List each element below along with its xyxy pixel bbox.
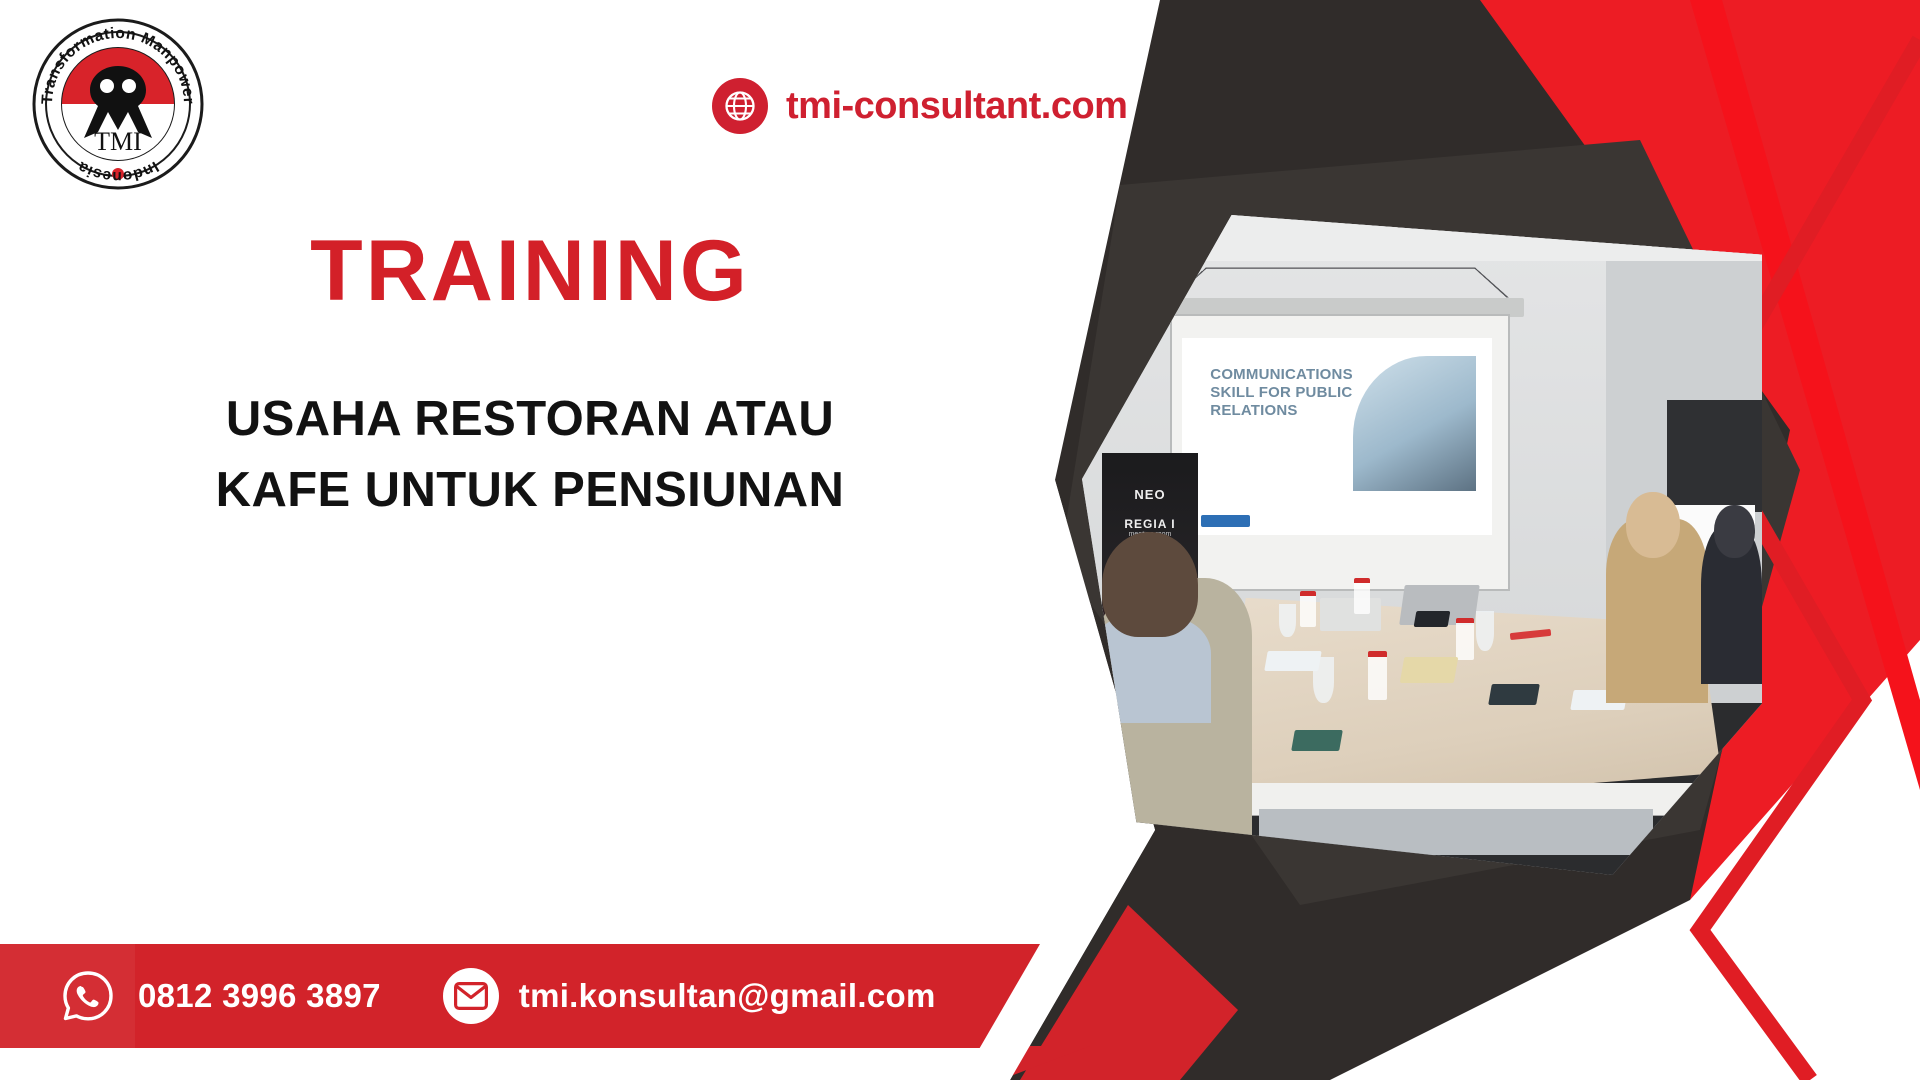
- drinking-glass: [1279, 604, 1295, 637]
- contact-bar: 0812 3996 3897 tmi.konsultan@gmail.com: [0, 944, 1040, 1048]
- whatsapp-icon: [58, 966, 118, 1026]
- slide-title-line-3: RELATIONS: [1210, 402, 1353, 420]
- slide-title-line-1: COMMUNICATIONS: [1210, 366, 1353, 384]
- page-subtitle: USAHA RESTORAN ATAU KAFE UNTUK PENSIUNAN: [0, 384, 1060, 526]
- globe-icon: [712, 78, 768, 134]
- water-bottle: [1300, 591, 1316, 627]
- company-logo: TMI Transformation Manpower Indonesia: [28, 14, 208, 194]
- projection-screen: COMMUNICATIONS SKILL FOR PUBLIC RELATION…: [1170, 314, 1510, 591]
- smartphone: [1291, 730, 1342, 751]
- slide-title-line-2: SKILL FOR PUBLIC: [1210, 384, 1353, 402]
- phone-number-text: 0812 3996 3897: [138, 977, 381, 1015]
- tmi-logo-icon: TMI Transformation Manpower Indonesia: [28, 14, 208, 194]
- notepad: [1399, 657, 1458, 683]
- subtitle-line-1: USAHA RESTORAN ATAU: [0, 384, 1060, 455]
- email-address-text: tmi.konsultan@gmail.com: [519, 977, 936, 1015]
- participant-right-head: [1626, 492, 1680, 558]
- logo-initials: TMI: [94, 127, 142, 156]
- smartphone: [1414, 611, 1451, 627]
- participant-left-head: [1102, 532, 1197, 638]
- headline-block: TRAINING USAHA RESTORAN ATAU KAFE UNTUK …: [0, 228, 1060, 526]
- water-bottle: [1368, 651, 1387, 701]
- banner-brand: NEO: [1102, 487, 1197, 502]
- meeting-room-scene: COMMUNICATIONS SKILL FOR PUBLIC RELATION…: [1082, 215, 1762, 875]
- poster-canvas: TMI Transformation Manpower Indonesia tm…: [0, 0, 1920, 1080]
- smartphone: [1488, 684, 1539, 705]
- participant-far-right-head: [1714, 505, 1755, 558]
- page-title: TRAINING: [0, 228, 1060, 316]
- projector: [1320, 598, 1381, 631]
- window-blind: [1667, 400, 1762, 512]
- envelope-icon: [443, 968, 499, 1024]
- whatsapp-contact[interactable]: 0812 3996 3897: [58, 966, 381, 1026]
- slide-handshake-image: [1353, 356, 1476, 491]
- slide-footer-logo: [1201, 515, 1250, 527]
- email-contact[interactable]: tmi.konsultan@gmail.com: [443, 968, 936, 1024]
- presentation-slide: COMMUNICATIONS SKILL FOR PUBLIC RELATION…: [1182, 338, 1491, 535]
- subtitle-line-2: KAFE UNTUK PENSIUNAN: [0, 455, 1060, 526]
- training-photo: COMMUNICATIONS SKILL FOR PUBLIC RELATION…: [1082, 215, 1762, 875]
- slide-title: COMMUNICATIONS SKILL FOR PUBLIC RELATION…: [1182, 338, 1353, 535]
- water-bottle: [1456, 618, 1474, 661]
- drinking-glass: [1476, 611, 1494, 651]
- banner-room-name: REGIA I: [1102, 517, 1197, 531]
- paper-sheet: [1264, 651, 1322, 671]
- website-link[interactable]: tmi-consultant.com: [712, 78, 1127, 134]
- website-url-text: tmi-consultant.com: [786, 85, 1127, 128]
- screen-hanger: [1172, 268, 1508, 298]
- water-bottle: [1354, 578, 1370, 614]
